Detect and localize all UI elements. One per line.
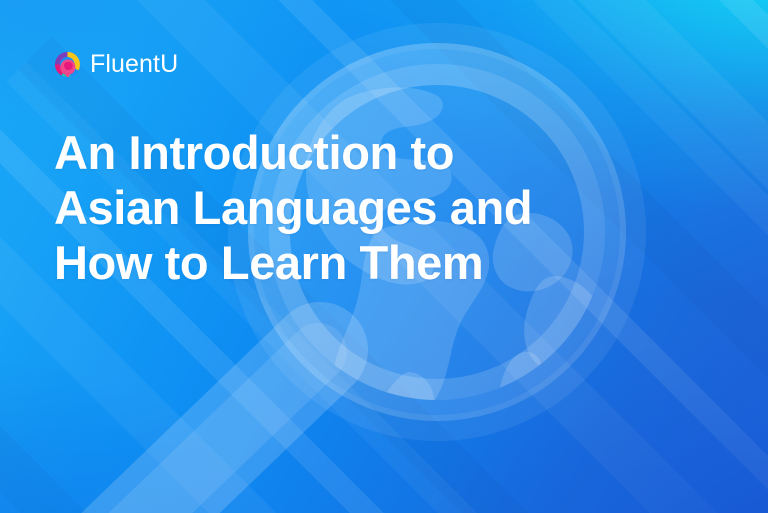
fluentu-globe-logo-icon — [54, 51, 81, 78]
hero-banner: FluentU An Introduction to Asian Languag… — [0, 0, 768, 513]
brand-logo[interactable]: FluentU — [54, 46, 714, 82]
page-title-line-1: An Introduction to — [54, 126, 694, 181]
brand-name: FluentU — [90, 52, 178, 77]
page-title-line-3: How to Learn Them — [54, 236, 694, 291]
page-title-line-2: Asian Languages and — [54, 181, 694, 236]
hero-content: FluentU An Introduction to Asian Languag… — [0, 0, 768, 513]
page-title: An Introduction to Asian Languages and H… — [54, 82, 694, 290]
